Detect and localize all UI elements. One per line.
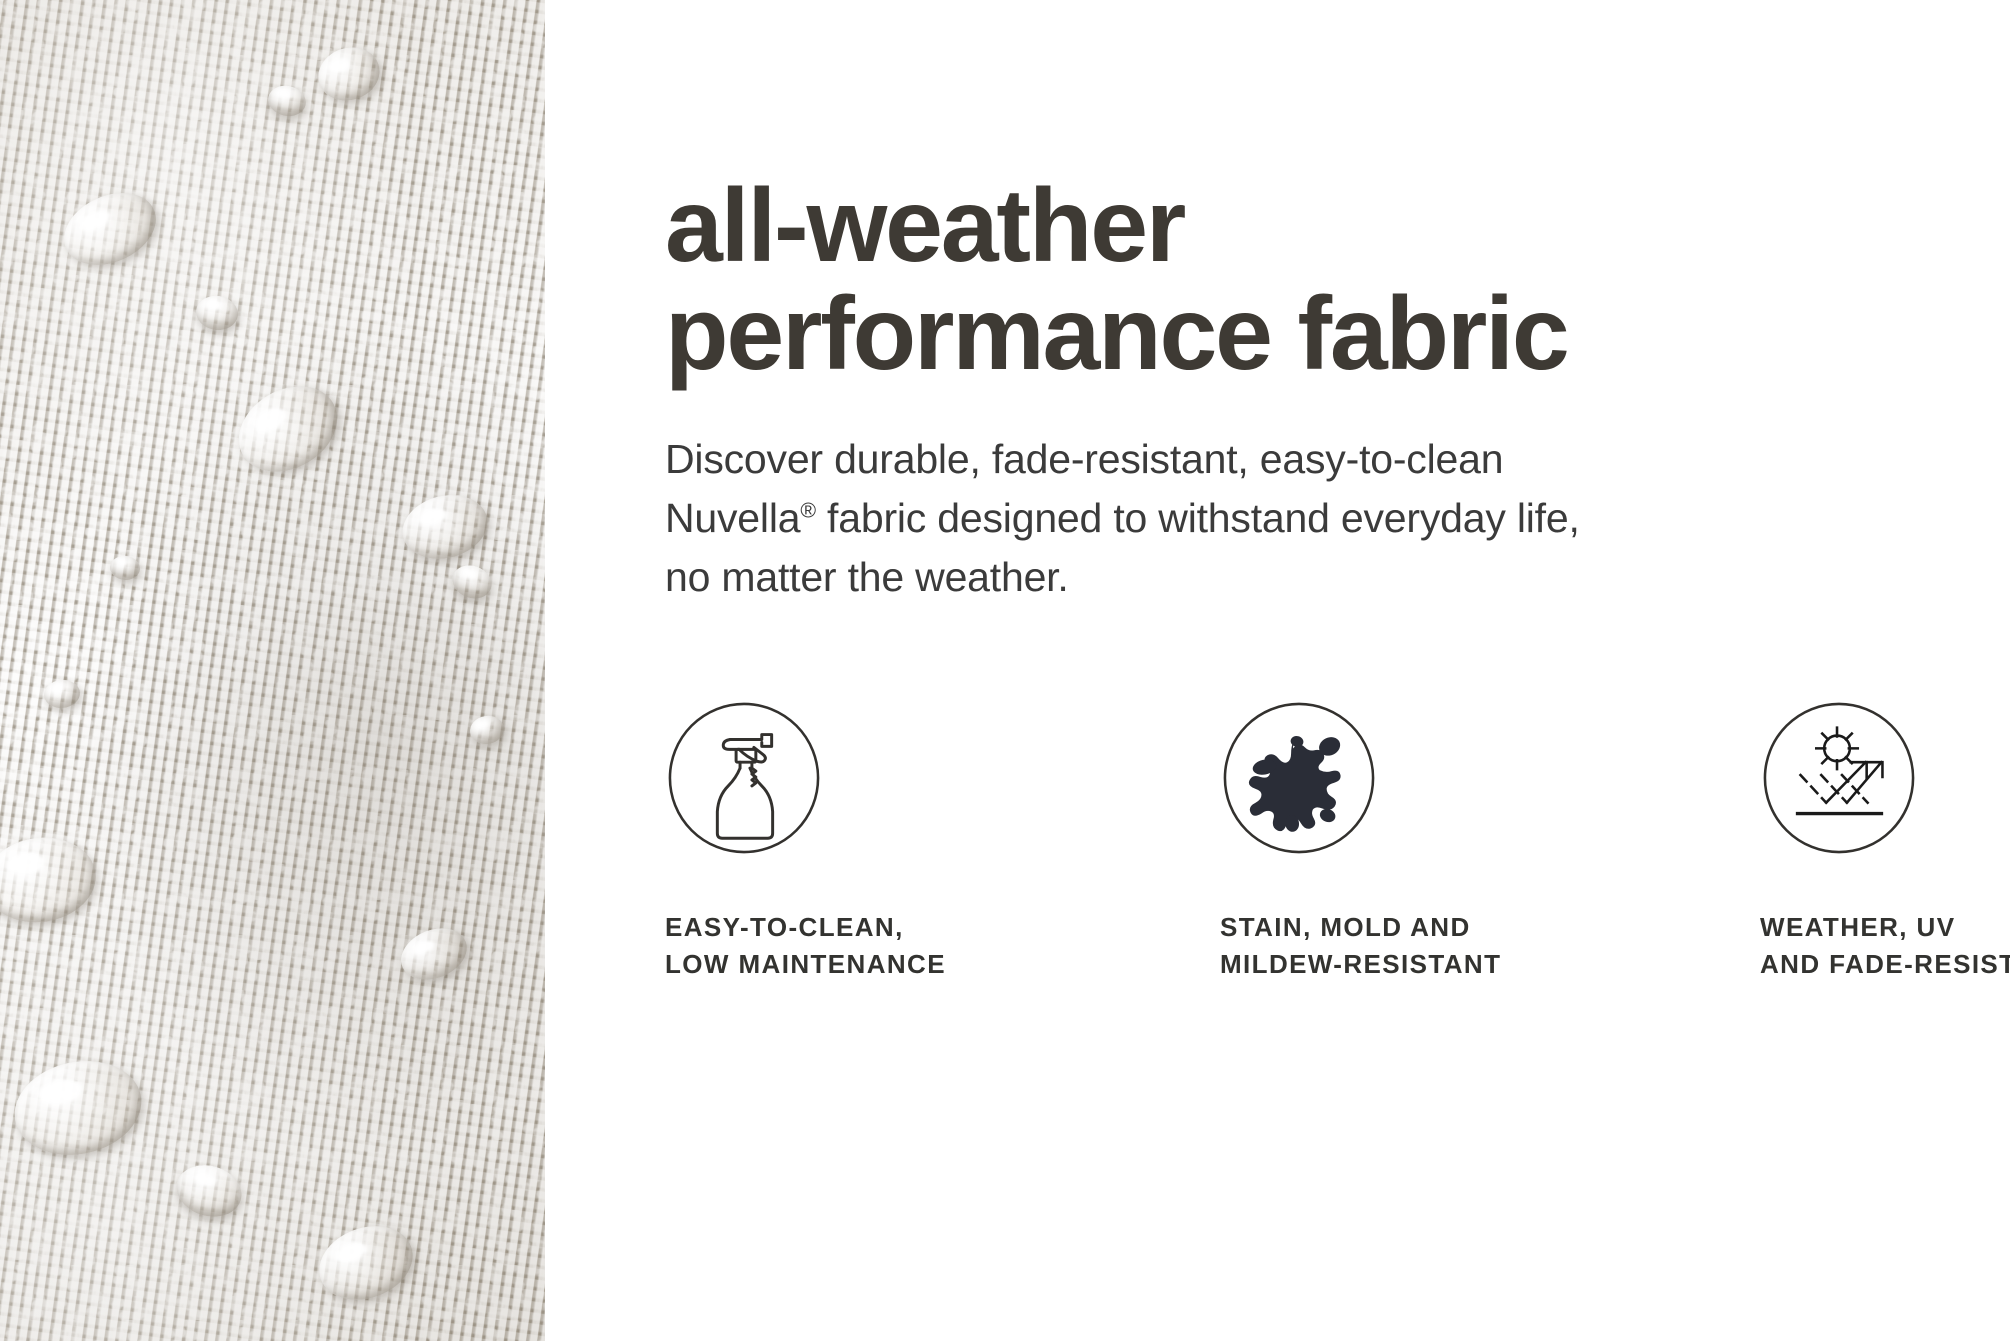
water-droplet xyxy=(311,40,386,109)
feature-caption: WEATHER, UV AND FADE-RESISTANT xyxy=(1760,857,2010,983)
water-droplet xyxy=(265,82,308,119)
feature-stain-mold-mildew: STAIN, MOLD AND MILDEW-RESISTANT xyxy=(1120,699,1675,983)
feature-caption: EASY-TO-CLEAN, LOW MAINTENANCE xyxy=(665,857,946,983)
headline-line-1: all-weather xyxy=(665,172,1955,280)
water-droplet xyxy=(468,713,506,746)
water-droplet xyxy=(223,369,352,489)
feature-list: EASY-TO-CLEAN, LOW MAINTENANCE STAIN, MO… xyxy=(665,607,2010,983)
water-droplet xyxy=(309,1214,423,1313)
stain-splat-icon xyxy=(1220,699,1378,857)
water-droplet xyxy=(43,678,82,710)
headline-line-2: performance fabric xyxy=(665,280,1955,388)
water-droplets-group xyxy=(0,0,545,1341)
feature-weather-uv-fade: WEATHER, UV AND FADE-RESISTANT xyxy=(1675,699,2010,983)
subcopy-paragraph: Discover durable, fade-resistant, easy-t… xyxy=(665,388,1625,607)
water-droplet xyxy=(109,554,141,581)
registered-trademark-icon: ® xyxy=(800,499,816,523)
water-droplet xyxy=(396,487,494,568)
water-droplet xyxy=(6,1050,150,1167)
content-panel: all-weather performance fabric Discover … xyxy=(545,0,2010,1341)
water-droplet xyxy=(194,293,240,333)
sun-uv-reflect-icon xyxy=(1760,699,1918,857)
water-droplet xyxy=(448,560,497,604)
fabric-photo-panel xyxy=(0,0,545,1341)
all-weather-fabric-banner: all-weather performance fabric Discover … xyxy=(0,0,2010,1341)
spray-bottle-icon xyxy=(665,699,823,857)
water-droplet xyxy=(0,831,101,930)
feature-easy-to-clean: EASY-TO-CLEAN, LOW MAINTENANCE xyxy=(665,699,1120,983)
water-droplet xyxy=(393,919,474,989)
page-title: all-weather performance fabric xyxy=(665,0,1955,388)
water-droplet xyxy=(53,179,168,278)
water-droplet xyxy=(170,1158,247,1224)
feature-caption: STAIN, MOLD AND MILDEW-RESISTANT xyxy=(1220,857,1501,983)
